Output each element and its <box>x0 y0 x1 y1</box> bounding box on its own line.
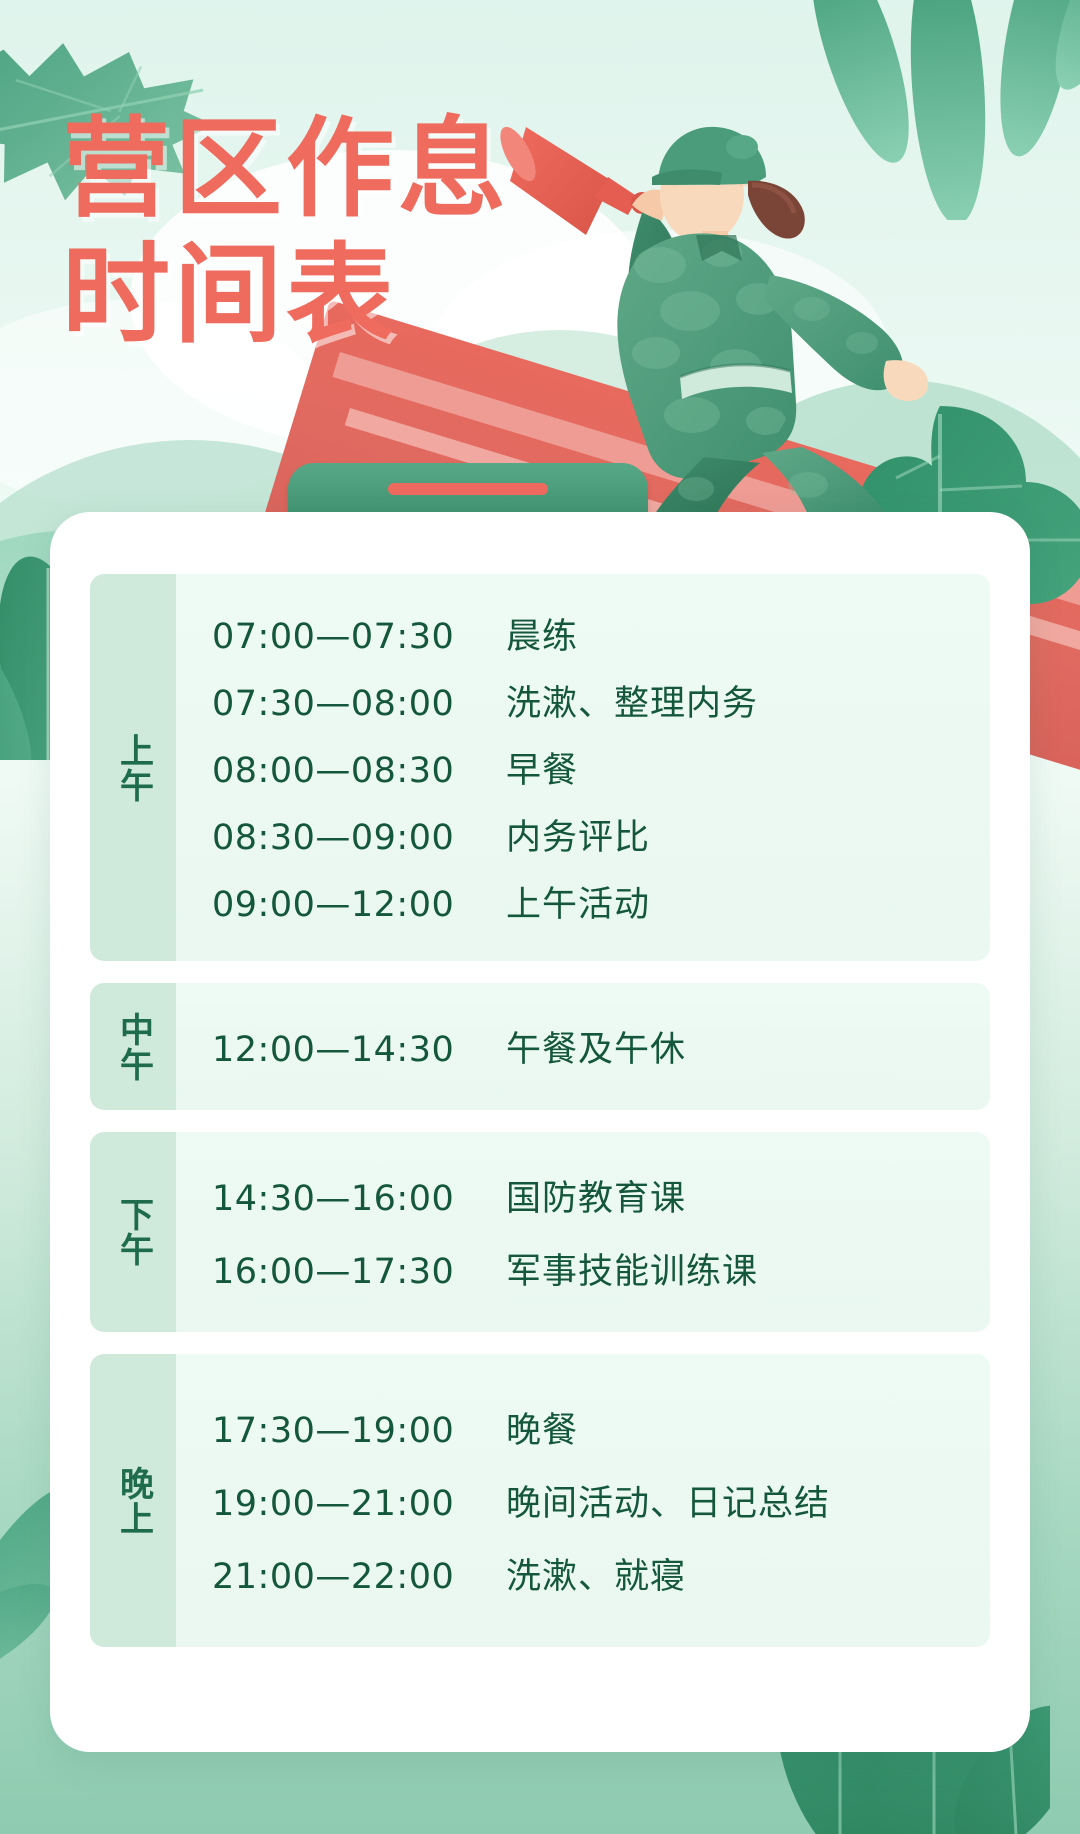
period-label-noon: 中午 <box>113 1012 152 1082</box>
row-activity: 晨练 <box>506 608 578 659</box>
row-activity: 内务评比 <box>506 809 650 860</box>
table-row: 12:00—14:30 午餐及午休 <box>212 1021 990 1072</box>
period-cell-afternoon: 下午 <box>90 1132 176 1332</box>
row-activity: 洗漱、就寝 <box>506 1548 686 1599</box>
row-time: 16:00—17:30 <box>212 1252 480 1292</box>
period-label-morning: 上午 <box>113 733 152 803</box>
row-time: 19:00—21:00 <box>212 1484 480 1524</box>
schedule-section-noon: 中午 12:00—14:30 午餐及午休 <box>90 983 990 1110</box>
table-row: 19:00—21:00 晚间活动、日记总结 <box>212 1475 990 1526</box>
schedule-table: 上午 07:00—07:30 晨练 07:30—08:00 洗漱、整理内务 08… <box>90 574 990 1647</box>
rows-morning: 07:00—07:30 晨练 07:30—08:00 洗漱、整理内务 08:00… <box>176 574 990 961</box>
table-row: 09:00—12:00 上午活动 <box>212 876 990 927</box>
rows-noon: 12:00—14:30 午餐及午休 <box>176 983 990 1110</box>
poster-root: 营区作息 时间表 <box>0 0 1080 1834</box>
row-activity: 军事技能训练课 <box>506 1243 758 1294</box>
table-row: 07:00—07:30 晨练 <box>212 608 990 659</box>
table-row: 21:00—22:00 洗漱、就寝 <box>212 1548 990 1599</box>
period-cell-noon: 中午 <box>90 983 176 1110</box>
page-title-line-2: 时间表 <box>62 244 510 348</box>
rows-afternoon: 14:30—16:00 国防教育课 16:00—17:30 军事技能训练课 <box>176 1132 990 1332</box>
table-row: 08:00—08:30 早餐 <box>212 742 990 793</box>
row-activity: 晚间活动、日记总结 <box>506 1475 830 1526</box>
period-label-evening: 晚上 <box>113 1466 152 1536</box>
table-row: 14:30—16:00 国防教育课 <box>212 1170 990 1221</box>
schedule-card: 上午 07:00—07:30 晨练 07:30—08:00 洗漱、整理内务 08… <box>50 512 1030 1752</box>
row-activity: 午餐及午休 <box>506 1021 686 1072</box>
row-time: 08:30—09:00 <box>212 818 480 858</box>
row-time: 07:00—07:30 <box>212 617 480 657</box>
row-time: 21:00—22:00 <box>212 1557 480 1597</box>
row-activity: 早餐 <box>506 742 578 793</box>
megaphone-icon <box>493 122 653 235</box>
row-activity: 晚餐 <box>506 1402 578 1453</box>
page-title-line-1: 营区作息 <box>62 118 510 222</box>
schedule-section-afternoon: 下午 14:30—16:00 国防教育课 16:00—17:30 军事技能训练课 <box>90 1132 990 1332</box>
row-activity: 洗漱、整理内务 <box>506 675 758 726</box>
period-label-afternoon: 下午 <box>113 1197 152 1267</box>
page-title: 营区作息 时间表 <box>62 118 510 347</box>
row-time: 17:30—19:00 <box>212 1411 480 1451</box>
period-cell-morning: 上午 <box>90 574 176 961</box>
table-row: 07:30—08:00 洗漱、整理内务 <box>212 675 990 726</box>
row-activity: 上午活动 <box>506 876 650 927</box>
schedule-section-morning: 上午 07:00—07:30 晨练 07:30—08:00 洗漱、整理内务 08… <box>90 574 990 961</box>
running-soldier-illustration <box>490 85 960 515</box>
row-time: 07:30—08:00 <box>212 684 480 724</box>
row-activity: 国防教育课 <box>506 1170 686 1221</box>
row-time: 14:30—16:00 <box>212 1179 480 1219</box>
period-cell-evening: 晚上 <box>90 1354 176 1647</box>
row-time: 08:00—08:30 <box>212 751 480 791</box>
table-row: 16:00—17:30 军事技能训练课 <box>212 1243 990 1294</box>
rows-evening: 17:30—19:00 晚餐 19:00—21:00 晚间活动、日记总结 21:… <box>176 1354 990 1647</box>
row-time: 12:00—14:30 <box>212 1030 480 1070</box>
row-time: 09:00—12:00 <box>212 885 480 925</box>
table-row: 17:30—19:00 晚餐 <box>212 1402 990 1453</box>
table-row: 08:30—09:00 内务评比 <box>212 809 990 860</box>
schedule-section-evening: 晚上 17:30—19:00 晚餐 19:00—21:00 晚间活动、日记总结 … <box>90 1354 990 1647</box>
